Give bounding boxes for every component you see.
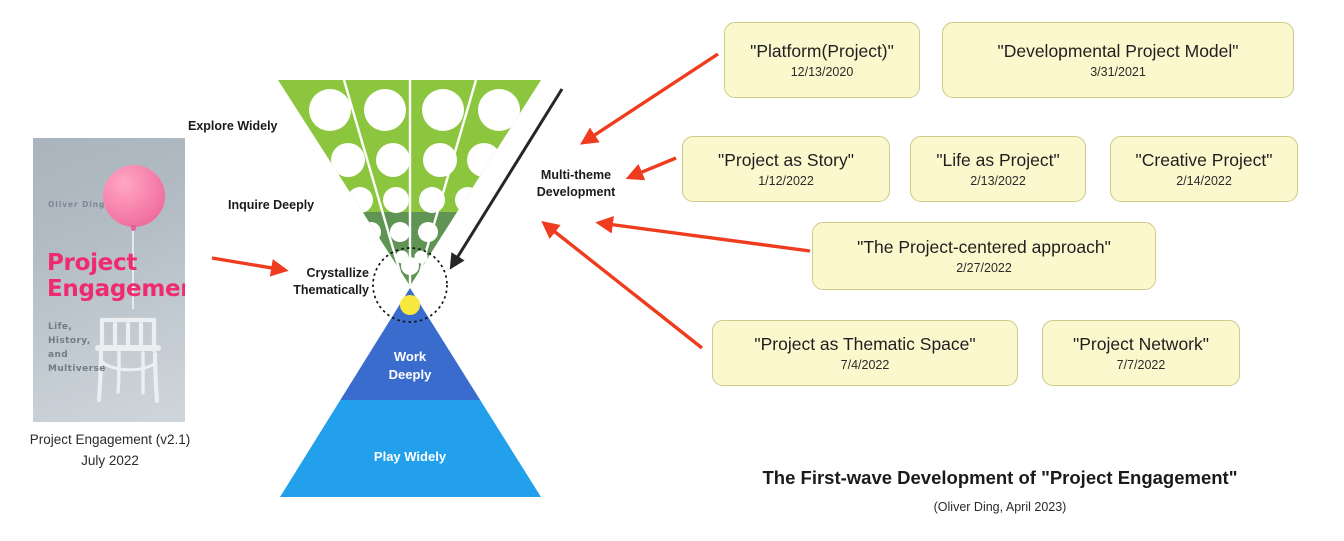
card-title: "Developmental Project Model": [997, 41, 1238, 62]
card-the-project-centered-approach[interactable]: "The Project-centered approach" 2/27/202…: [812, 222, 1156, 290]
card-title: "Project as Thematic Space": [754, 334, 975, 355]
card-developmental-project-model[interactable]: "Developmental Project Model" 3/31/2021: [942, 22, 1294, 98]
card-title: "Creative Project": [1136, 150, 1273, 171]
label-multi-theme-development: Multi-themeDevelopment: [528, 167, 624, 201]
arrow-red-centered-approach-card: [600, 223, 810, 251]
figure-title: The First-wave Development of "Project E…: [690, 467, 1310, 489]
label-crystallize-thematically: CrystallizeThematically: [283, 265, 369, 299]
label-explore-widely: Explore Widely: [188, 118, 278, 135]
card-date: 2/27/2022: [956, 261, 1012, 275]
core-dot: [400, 295, 420, 315]
card-project-as-thematic-space[interactable]: "Project as Thematic Space" 7/4/2022: [712, 320, 1018, 386]
card-title: "Project as Story": [718, 150, 854, 171]
card-date: 3/31/2021: [1090, 65, 1146, 79]
card-date: 2/13/2022: [970, 174, 1026, 188]
card-life-as-project[interactable]: "Life as Project" 2/13/2022: [910, 136, 1086, 202]
label-play-widely: Play Widely: [357, 448, 463, 466]
card-date: 1/12/2022: [758, 174, 814, 188]
label-inquire-deeply: Inquire Deeply: [228, 197, 314, 214]
card-title: "Platform(Project)": [750, 41, 894, 62]
label-work-deeply: WorkDeeply: [373, 348, 447, 384]
triangle-body: [270, 285, 555, 500]
card-project-network[interactable]: "Project Network" 7/7/2022: [1042, 320, 1240, 386]
card-platform-project[interactable]: "Platform(Project)" 12/13/2020: [724, 22, 920, 98]
arrow-red-book-to-crystallize: [212, 258, 284, 270]
card-date: 7/7/2022: [1117, 358, 1166, 372]
arrow-red-thematic-space-card: [545, 224, 702, 348]
card-date: 12/13/2020: [791, 65, 854, 79]
figure-credit: (Oliver Ding, April 2023): [690, 500, 1310, 514]
card-title: "The Project-centered approach": [857, 237, 1111, 258]
arrow-red-story-card: [630, 158, 676, 177]
card-date: 7/4/2022: [841, 358, 890, 372]
arrow-red-platform-card: [584, 54, 718, 142]
card-project-as-story[interactable]: "Project as Story" 1/12/2022: [682, 136, 890, 202]
card-creative-project[interactable]: "Creative Project" 2/14/2022: [1110, 136, 1298, 202]
card-title: "Project Network": [1073, 334, 1209, 355]
card-date: 2/14/2022: [1176, 174, 1232, 188]
card-title: "Life as Project": [936, 150, 1059, 171]
diagram-canvas: Oliver Ding ProjectEngagement Life,Histo…: [0, 0, 1344, 541]
